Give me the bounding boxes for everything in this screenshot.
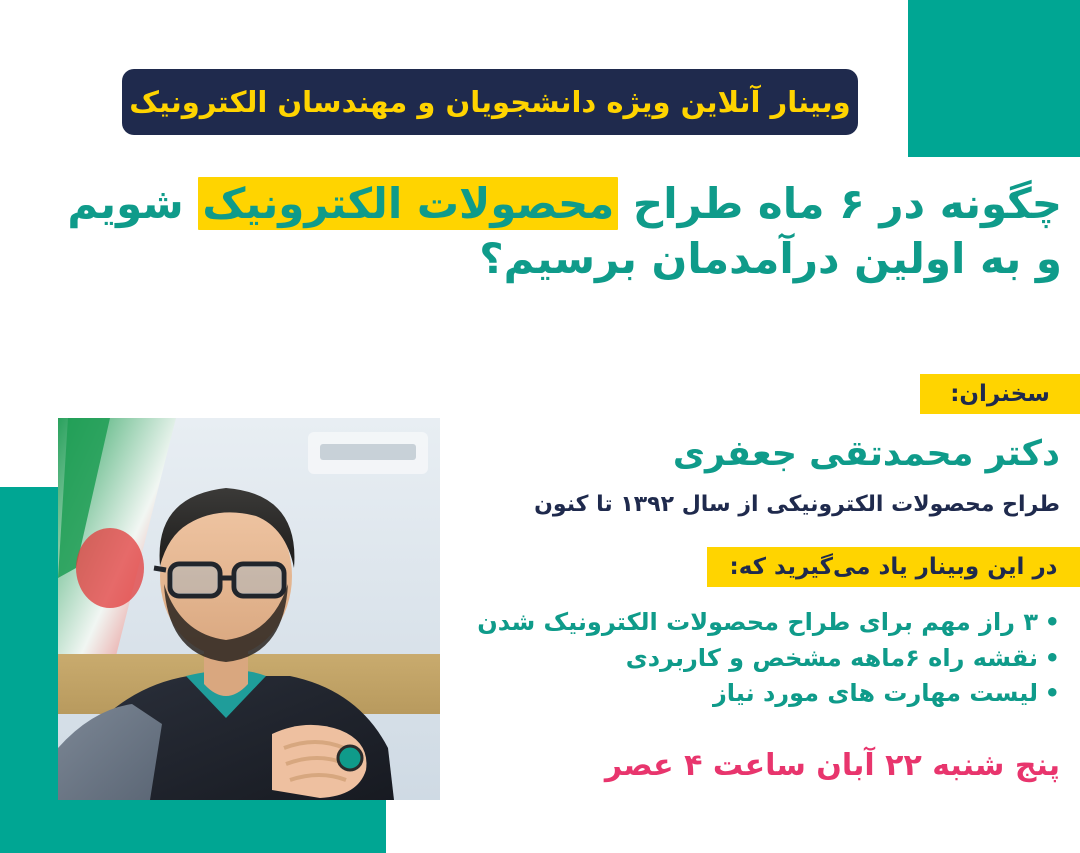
headline-line-1-suffix: شویم <box>67 179 198 228</box>
speaker-photo <box>58 418 440 800</box>
headline-line-2: و به اولین درآمدمان برسیم؟ <box>22 231 1062 286</box>
learn-band-label: در این وبینار یاد می‌گیرید که: <box>730 556 1058 579</box>
decorative-block-top-right <box>908 0 1080 157</box>
headline-highlight: محصولات الکترونیک <box>198 177 618 230</box>
speaker-badge-label: سخنران: <box>950 383 1050 406</box>
learn-band: در این وبینار یاد می‌گیرید که: <box>707 547 1080 587</box>
headline-line-1-prefix: چگونه در ۶ ماه طراح <box>618 179 1062 228</box>
banner-title: وبینار آنلاین ویژه دانشجویان و مهندسان ا… <box>129 88 850 117</box>
speaker-badge: سخنران: <box>920 374 1080 414</box>
page-title: چگونه در ۶ ماه طراح محصولات الکترونیک شو… <box>22 176 1062 287</box>
headline-line-1: چگونه در ۶ ماه طراح محصولات الکترونیک شو… <box>22 176 1062 231</box>
decorative-block-bottom <box>0 800 386 853</box>
webinar-banner: وبینار آنلاین ویژه دانشجویان و مهندسان ا… <box>122 69 858 135</box>
webinar-poster: وبینار آنلاین ویژه دانشجویان و مهندسان ا… <box>0 0 1080 853</box>
